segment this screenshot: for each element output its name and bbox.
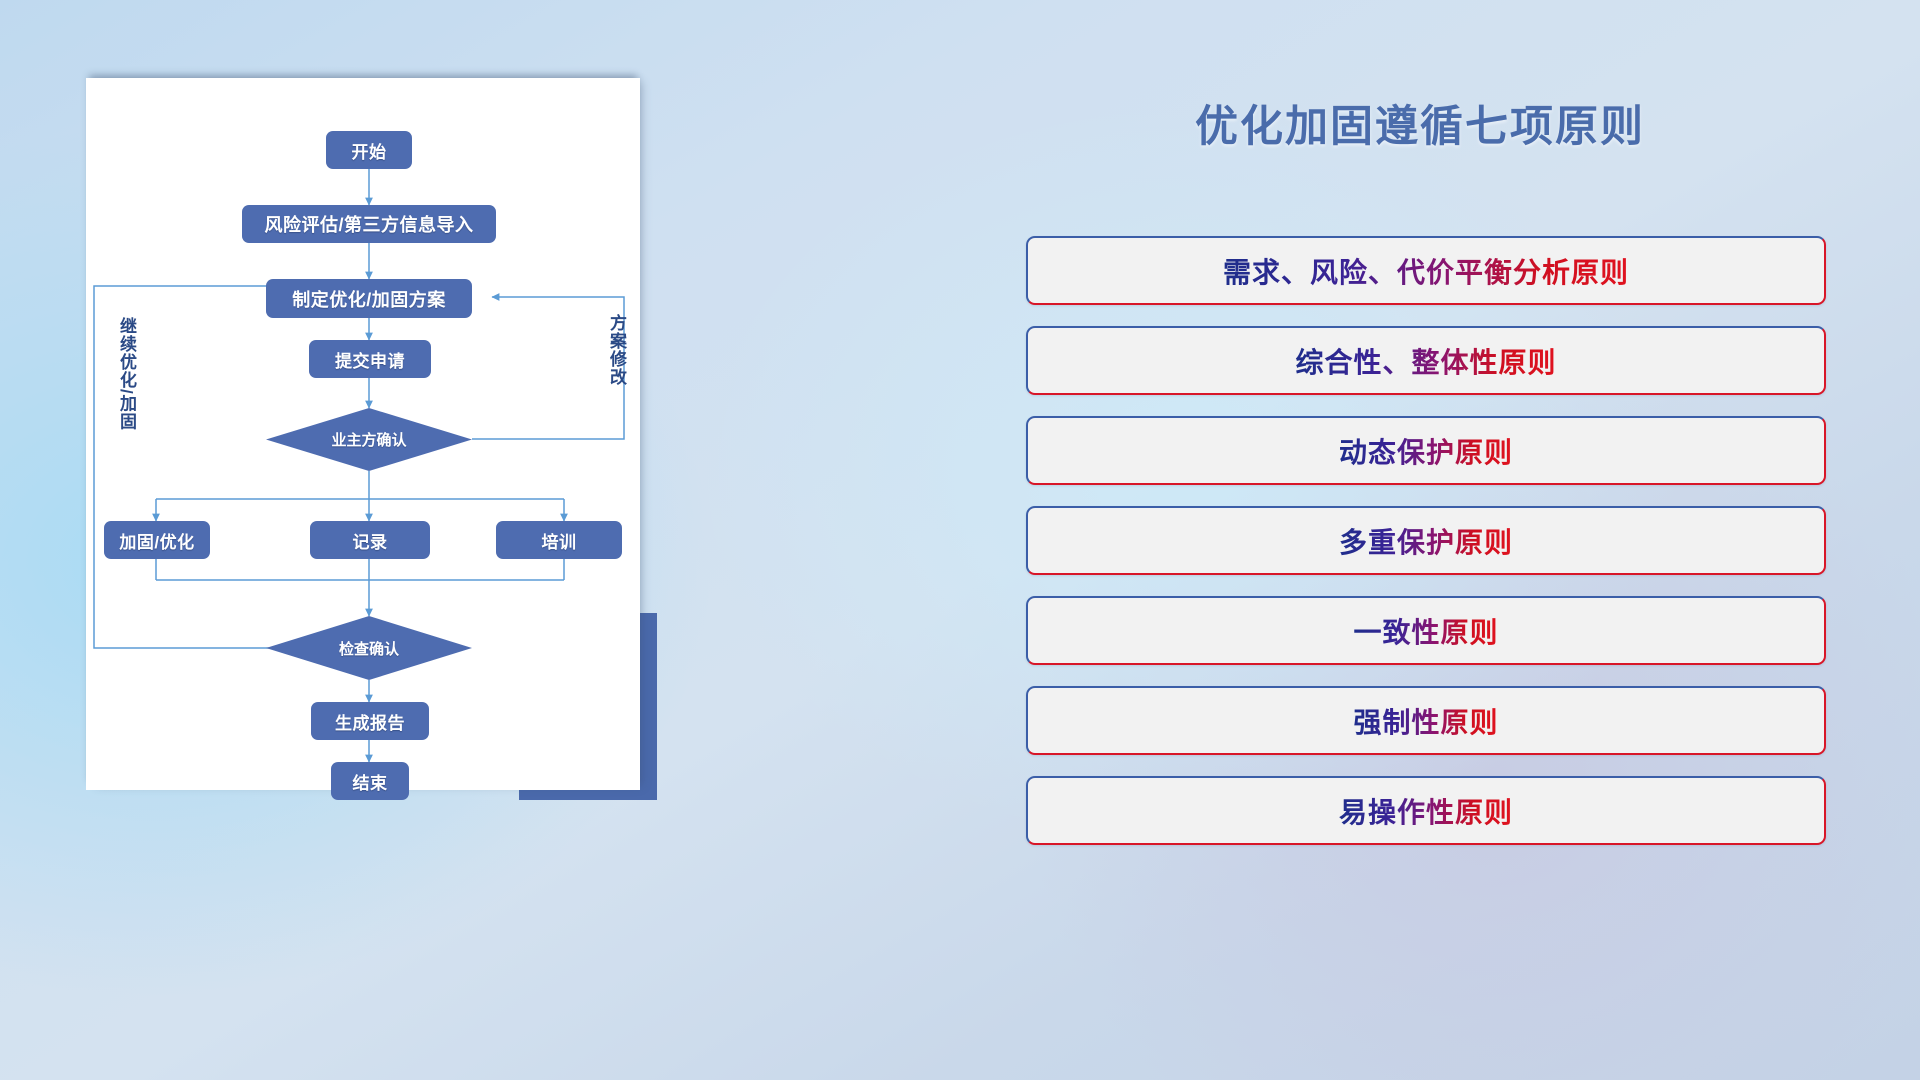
flow-node-generate-report[interactable]: 生成报告 [311,702,429,740]
flow-node-record[interactable]: 记录 [310,521,430,559]
principle-card-label: 一致性原则 [1353,611,1498,651]
principles-panel-title: 优化加固遵循七项原则 [1020,92,1820,154]
flow-node-label: 提交申请 [335,347,405,372]
flow-node-start[interactable]: 开始 [326,131,412,169]
flow-node-label: 培训 [542,528,577,553]
flow-node-reinforce-optimize[interactable]: 加固/优化 [104,521,210,559]
principle-card-label: 综合性、整体性原则 [1295,341,1556,381]
flow-node-label: 记录 [353,528,388,553]
flow-node-label: 结束 [353,769,388,794]
flow-node-label: 制定优化/加固方案 [292,286,446,312]
principle-card-7[interactable]: 易操作性原则 [1026,776,1826,845]
edge-label-plan-revision: 方案修改 [604,314,629,386]
principle-card-2[interactable]: 综合性、整体性原则 [1026,326,1826,395]
flow-node-label: 风险评估/第三方信息导入 [265,211,474,237]
principles-card-list: 需求、风险、代价平衡分析原则 综合性、整体性原则 动态保护原则 多重保护原则 一… [1026,236,1826,866]
slide-canvas: 开始 风险评估/第三方信息导入 制定优化/加固方案 提交申请 业主方确认 加固/… [0,0,1920,1080]
flow-node-label: 开始 [352,138,387,163]
principle-card-label: 需求、风险、代价平衡分析原则 [1223,251,1629,291]
principle-card-label: 强制性原则 [1353,701,1498,741]
principle-card-6[interactable]: 强制性原则 [1026,686,1826,755]
flow-node-training[interactable]: 培训 [496,521,622,559]
principle-card-5[interactable]: 一致性原则 [1026,596,1826,665]
flow-node-label: 业主方确认 [331,429,406,450]
principle-card-label: 动态保护原则 [1339,431,1513,471]
flow-node-end[interactable]: 结束 [331,762,409,800]
flow-node-label: 生成报告 [335,709,405,734]
flow-node-label: 检查确认 [339,638,399,659]
edge-label-continue-optimize: 继续优化/加固 [114,317,139,431]
flowchart-inner: 开始 风险评估/第三方信息导入 制定优化/加固方案 提交申请 业主方确认 加固/… [86,78,640,790]
flow-node-risk-assessment[interactable]: 风险评估/第三方信息导入 [242,205,496,243]
flow-node-submit-application[interactable]: 提交申请 [309,340,431,378]
flowchart-card: 开始 风险评估/第三方信息导入 制定优化/加固方案 提交申请 业主方确认 加固/… [86,78,640,790]
principle-card-4[interactable]: 多重保护原则 [1026,506,1826,575]
principle-card-1[interactable]: 需求、风险、代价平衡分析原则 [1026,236,1826,305]
principle-card-3[interactable]: 动态保护原则 [1026,416,1826,485]
principle-card-label: 易操作性原则 [1339,791,1513,831]
flow-node-label: 加固/优化 [119,528,194,553]
flow-node-make-plan[interactable]: 制定优化/加固方案 [266,279,472,318]
principle-card-label: 多重保护原则 [1339,521,1513,561]
